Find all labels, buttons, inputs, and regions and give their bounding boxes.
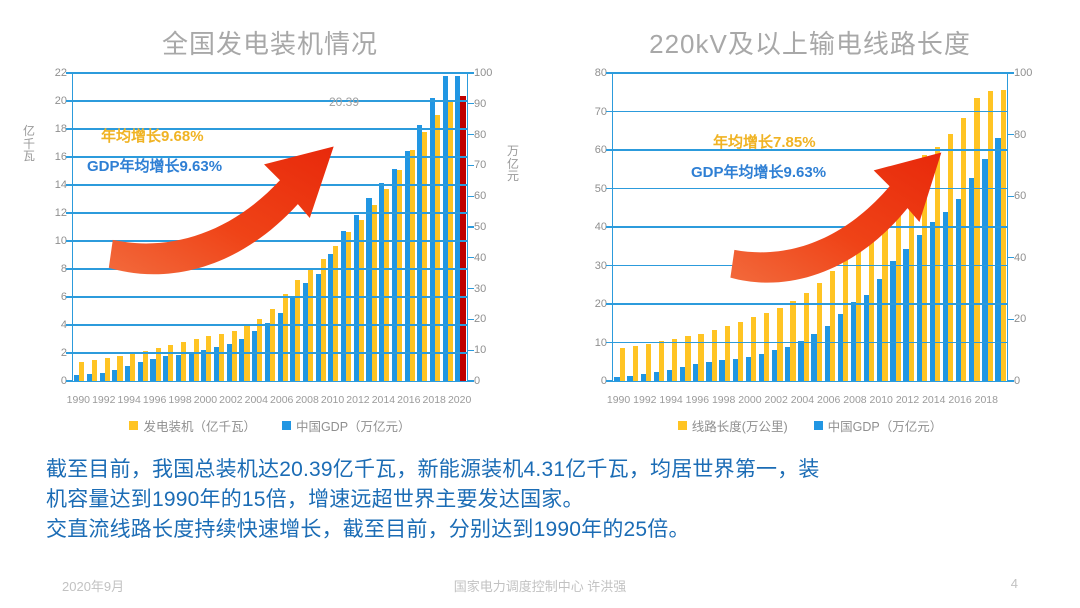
bar-group (187, 73, 200, 381)
axis-label-left-y2: 万亿元 (506, 145, 520, 183)
bar-group (73, 73, 86, 381)
x-axis-tick-label: 2014 (372, 394, 395, 406)
x-axis-tick-label: 1990 (67, 394, 90, 406)
y-axis-tick-mark (606, 111, 613, 112)
y-axis-tick-mark (66, 268, 73, 269)
bar-capacity (948, 134, 953, 381)
y-axis-tick-mark (606, 342, 613, 343)
x-axis-tick-label: 1998 (168, 394, 191, 406)
gridline (73, 296, 467, 297)
bar-group (340, 73, 353, 381)
y2-axis-tick-mark (467, 103, 474, 104)
bar-capacity (79, 362, 84, 381)
bar-capacity (843, 255, 848, 381)
y2-axis-tick-mark (467, 350, 474, 351)
x-axis-tick-label: 2018 (423, 394, 446, 406)
body-line-3: 交直流线路长度持续快速增长，截至目前，分别达到1990年的25倍。 (46, 515, 1046, 545)
bar-capacity (646, 344, 651, 381)
x-axis-tick-label: 2014 (922, 394, 945, 406)
y2-axis-tick-mark (1007, 380, 1014, 381)
bar-capacity (738, 322, 743, 381)
bar-capacity (777, 308, 782, 381)
x-axis-tick-label: 2000 (738, 394, 761, 406)
bar-capacity (659, 341, 664, 381)
annotation-growth-rate-left: 年均增长9.68% (101, 125, 204, 146)
gridline (73, 352, 467, 353)
bar-capacity (830, 271, 835, 381)
x-axis-tick-label: 1992 (633, 394, 656, 406)
y2-axis-tick-label: 40 (474, 252, 486, 264)
y2-axis-tick-mark (1007, 319, 1014, 320)
x-axis-tick-label: 2012 (896, 394, 919, 406)
x-axis-tick-label: 2020 (448, 394, 471, 406)
bar-capacity (725, 326, 730, 381)
y-axis-tick-mark (606, 380, 613, 381)
y2-axis-tick-label: 100 (1014, 67, 1032, 79)
y-axis-tick-mark (66, 212, 73, 213)
bar-capacity (422, 132, 427, 381)
y2-axis-tick-mark (1007, 72, 1014, 73)
bar-group (391, 73, 404, 381)
bar-group (352, 73, 365, 381)
bar-capacity (219, 334, 224, 381)
legend-label-gdp: 中国GDP（万亿元） (828, 416, 943, 435)
y2-axis-tick-mark (467, 72, 474, 73)
bars-container-left (73, 73, 467, 381)
x-axis-tick-label: 1992 (92, 394, 115, 406)
chart-title-right: 220kV及以上输电线路长度 (540, 24, 1080, 61)
x-axis-tick-label: 2004 (245, 394, 268, 406)
body-text: 截至目前，我国总装机达20.39亿千瓦，新能源装机4.31亿千瓦，均居世界第一，… (46, 455, 1046, 544)
gridline (613, 188, 1007, 189)
bar-group (238, 73, 251, 381)
bar-group (124, 73, 137, 381)
y2-axis-tick-label: 40 (1014, 252, 1026, 264)
bar-group (416, 73, 429, 381)
bar-capacity (672, 339, 677, 381)
y-axis-tick-mark (606, 226, 613, 227)
bar-capacity (896, 184, 901, 382)
bar-group (454, 73, 467, 381)
slide-footer: 2020年9月 国家电力调度控制中心 许洪强 4 (0, 576, 1080, 598)
bar-group (302, 73, 315, 381)
y-axis-tick-mark (606, 265, 613, 266)
y2-axis-tick-mark (1007, 257, 1014, 258)
y-axis-tick-mark (66, 324, 73, 325)
bar-group (429, 73, 442, 381)
bar-capacity (346, 232, 351, 381)
y2-axis-tick-label: 30 (474, 283, 486, 295)
x-axis-tick-label: 2002 (764, 394, 787, 406)
bar-group (225, 73, 238, 381)
bar-capacity (1001, 90, 1006, 381)
y2-axis-tick-mark (467, 226, 474, 227)
annotation-growth-rate-right: 年均增长7.85% (713, 131, 816, 152)
y2-axis-tick-label: 80 (1014, 129, 1026, 141)
y2-axis-tick-mark (467, 257, 474, 258)
y2-axis-tick-label: 0 (474, 375, 480, 387)
bar-group (111, 73, 124, 381)
y2-axis-tick-mark (1007, 196, 1014, 197)
footer-org: 国家电力调度控制中心 许洪强 (454, 576, 627, 595)
bar-capacity (194, 339, 199, 381)
body-line-1: 截至目前，我国总装机达20.39亿千瓦，新能源装机4.31亿千瓦，均居世界第一，… (46, 455, 1046, 485)
bar-capacity (333, 246, 338, 381)
x-axis-tick-label: 1994 (659, 394, 682, 406)
body-line-2: 机容量达到1990年的15倍，增速远超世界主要发达国家。 (46, 485, 1046, 515)
x-axis-tick-label: 2006 (817, 394, 840, 406)
chart-title-left: 全国发电装机情况 (0, 24, 540, 61)
y-axis-tick-mark (66, 156, 73, 157)
gridline (613, 226, 1007, 227)
bar-capacity (869, 222, 874, 381)
y2-axis-tick-label: 0 (1014, 375, 1020, 387)
x-axis-tick-label: 1996 (143, 394, 166, 406)
bar-capacity (257, 319, 262, 381)
plot-area-right: 年均增长7.85% GDP年均增长9.63% 01020304050607080… (612, 72, 1008, 382)
legend-label-capacity: 发电装机（亿千瓦） (143, 416, 256, 435)
y2-axis-tick-label: 20 (474, 313, 486, 325)
y2-axis-tick-mark (467, 196, 474, 197)
y2-axis-tick-label: 90 (474, 98, 486, 110)
bar-group (86, 73, 99, 381)
y-axis-tick-mark (66, 100, 73, 101)
x-axis-tick-label: 2006 (270, 394, 293, 406)
x-axis-tick-label: 1994 (118, 394, 141, 406)
y-axis-tick-mark (66, 380, 73, 381)
bar-capacity (270, 309, 275, 381)
y2-axis-tick-mark (467, 380, 474, 381)
gridline (613, 265, 1007, 266)
bar-capacity (974, 98, 979, 381)
x-axis-right: 1990199219941996199820002002200420062008… (612, 394, 1008, 410)
y2-axis-tick-label: 60 (1014, 190, 1026, 202)
x-axis-tick-label: 1990 (607, 394, 630, 406)
bar-capacity (92, 360, 97, 381)
bar-capacity (764, 313, 769, 381)
x-axis-tick-label: 2016 (397, 394, 420, 406)
bar-capacity (620, 348, 625, 381)
legend-item-gdp: 中国GDP（万亿元） (814, 416, 943, 435)
bar-capacity (909, 172, 914, 381)
bar-group (327, 73, 340, 381)
y2-axis-tick-mark (467, 134, 474, 135)
bar-group (403, 73, 416, 381)
y-axis-tick-mark (66, 352, 73, 353)
x-axis-tick-label: 2004 (791, 394, 814, 406)
x-axis-tick-label: 2016 (948, 394, 971, 406)
plot-area-left: 年均增长9.68% GDP年均增长9.63% 20.39 02468101214… (72, 72, 468, 382)
gridline (73, 324, 467, 325)
y-axis-tick-mark (66, 296, 73, 297)
bar-capacity (633, 346, 638, 381)
bar-capacity (143, 351, 148, 381)
bar-capacity (372, 205, 377, 381)
gridline (73, 212, 467, 213)
legend-swatch-yellow-icon (678, 421, 687, 430)
axis-label-left-y: 亿千瓦 (22, 125, 36, 163)
legend-item-gdp: 中国GDP（万亿元） (282, 416, 411, 435)
gridline (73, 240, 467, 241)
bar-group (378, 73, 391, 381)
legend-swatch-blue-icon (814, 421, 823, 430)
bar-capacity (283, 294, 288, 381)
chart-panel-installed-capacity: 全国发电装机情况 亿千瓦 万亿元 年均增长9.68% GDP (0, 10, 540, 440)
bar-group (137, 73, 150, 381)
bar-capacity (856, 243, 861, 381)
gridline (613, 111, 1007, 112)
y2-axis-tick-label: 50 (474, 221, 486, 233)
bar-group (289, 73, 302, 381)
bar-capacity-highlight (460, 96, 465, 381)
x-axis-tick-label: 2000 (194, 394, 217, 406)
y2-axis-tick-mark (467, 319, 474, 320)
y2-axis-tick-mark (467, 165, 474, 166)
gridline (73, 72, 467, 73)
x-axis-tick-label: 2008 (843, 394, 866, 406)
bar-capacity (751, 317, 756, 381)
bar-capacity (206, 336, 211, 381)
bar-group (276, 73, 289, 381)
y2-axis-tick-label: 60 (474, 190, 486, 202)
legend-swatch-yellow-icon (129, 421, 138, 430)
x-axis-left: 1990199219941996199820002002200420062008… (72, 394, 468, 410)
gridline (613, 72, 1007, 73)
y-axis-tick-mark (606, 188, 613, 189)
bar-capacity (397, 170, 402, 381)
y2-axis-tick-label: 10 (474, 344, 486, 356)
y2-axis-tick-mark (467, 288, 474, 289)
y2-axis-tick-mark (1007, 134, 1014, 135)
x-axis-tick-label: 1998 (712, 394, 735, 406)
bar-capacity (435, 115, 440, 381)
x-axis-tick-label: 2018 (975, 394, 998, 406)
bar-capacity (817, 283, 822, 381)
bar-group (149, 73, 162, 381)
y-axis-tick-mark (606, 149, 613, 150)
bar-group (264, 73, 277, 381)
annotation-gdp-growth-left: GDP年均增长9.63% (87, 155, 222, 176)
y2-axis-tick-label: 100 (474, 67, 492, 79)
x-axis-tick-label: 2008 (295, 394, 318, 406)
bar-group (98, 73, 111, 381)
bar-capacity (359, 220, 364, 381)
y-axis-tick-mark (606, 72, 613, 73)
legend-right: 线路长度(万公里) 中国GDP（万亿元） (540, 416, 1080, 435)
y-axis-tick-mark (66, 72, 73, 73)
bar-group (314, 73, 327, 381)
gridline (73, 184, 467, 185)
chart-panel-line-length: 220kV及以上输电线路长度 年均增长7.85% GDP年均增长9.63% (540, 10, 1080, 440)
legend-label-line-length: 线路长度(万公里) (692, 416, 788, 435)
bar-group (175, 73, 188, 381)
x-axis-tick-label: 2012 (346, 394, 369, 406)
gridline (613, 303, 1007, 304)
bar-capacity (882, 205, 887, 381)
bar-capacity (168, 345, 173, 381)
x-axis-tick-label: 1996 (686, 394, 709, 406)
bar-group (365, 73, 378, 381)
legend-item-line-length: 线路长度(万公里) (678, 416, 788, 435)
y-axis-tick-mark (66, 128, 73, 129)
bar-capacity (988, 91, 993, 381)
bar-group (251, 73, 264, 381)
bar-group (213, 73, 226, 381)
bar-group (200, 73, 213, 381)
x-axis-tick-label: 2010 (870, 394, 893, 406)
bar-capacity (105, 358, 110, 381)
footer-page-number: 4 (1011, 576, 1018, 591)
bar-group (441, 73, 454, 381)
legend-label-gdp: 中国GDP（万亿元） (296, 416, 411, 435)
gridline (73, 268, 467, 269)
footer-date: 2020年9月 (62, 576, 124, 595)
bar-capacity (321, 259, 326, 381)
slide-root: 全国发电装机情况 亿千瓦 万亿元 年均增长9.68% GDP (0, 0, 1080, 608)
bar-capacity (181, 342, 186, 381)
y-axis-tick-mark (66, 240, 73, 241)
gridline (613, 342, 1007, 343)
legend-item-capacity: 发电装机（亿千瓦） (129, 416, 256, 435)
bar-capacity (117, 356, 122, 381)
bar-capacity (698, 334, 703, 381)
bar-capacity (804, 293, 809, 381)
y2-axis-tick-label: 70 (474, 159, 486, 171)
legend-left: 发电装机（亿千瓦） 中国GDP（万亿元） (0, 416, 540, 435)
annotation-gdp-growth-right: GDP年均增长9.63% (691, 161, 826, 182)
peak-value-label-left: 20.39 (329, 95, 359, 109)
bar-capacity (130, 353, 135, 381)
bar-group (162, 73, 175, 381)
gridline (73, 100, 467, 101)
y2-axis-tick-label: 20 (1014, 313, 1026, 325)
legend-swatch-blue-icon (282, 421, 291, 430)
bar-capacity (712, 330, 717, 381)
y2-axis-tick-label: 80 (474, 129, 486, 141)
x-axis-tick-label: 2010 (321, 394, 344, 406)
x-axis-tick-label: 2002 (219, 394, 242, 406)
y-axis-tick-mark (606, 303, 613, 304)
bar-capacity (232, 331, 237, 381)
y-axis-tick-mark (66, 184, 73, 185)
